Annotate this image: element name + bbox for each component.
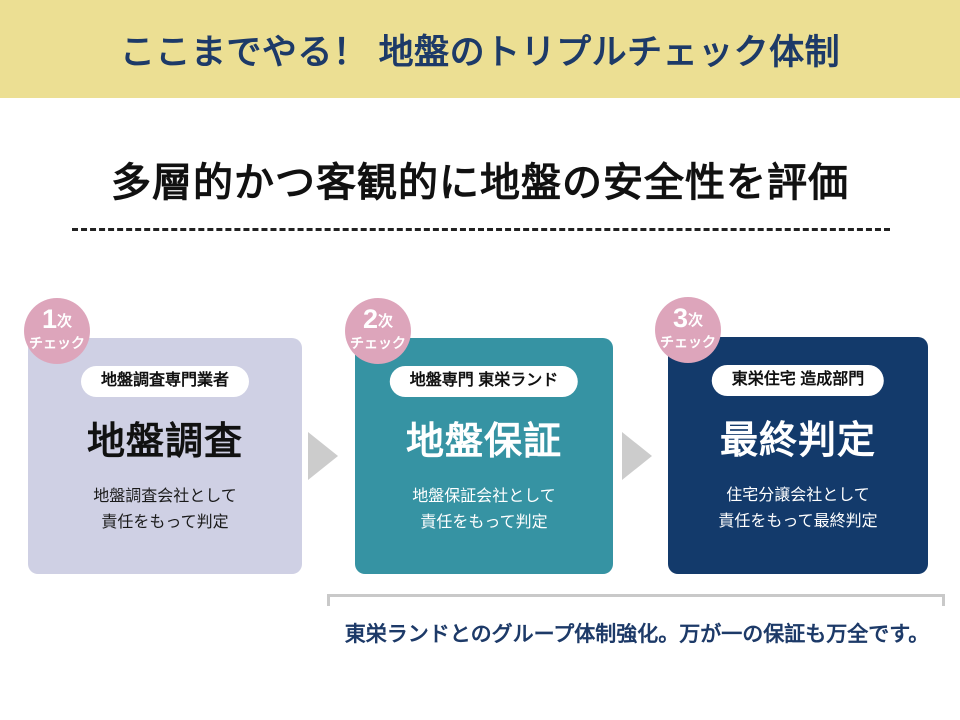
step-2-badge-number: 2: [363, 304, 378, 334]
step-3-provider-pill: 東栄住宅 造成部門: [712, 365, 884, 396]
step-1-badge-number: 1: [42, 304, 57, 334]
page-title: ここまでやる！ 地盤のトリプルチェック体制: [0, 0, 960, 98]
step-2-provider-pill: 地盤専門 東栄ランド: [390, 366, 578, 397]
step-2-heading: 地盤保証: [355, 422, 613, 464]
step-3-badge-label: チェック: [655, 335, 721, 349]
step-3-description-line2: 責任をもって最終判定: [668, 509, 928, 535]
infographic-page: ここまでやる！ 地盤のトリプルチェック体制 多層的かつ客観的に地盤の安全性を評価…: [0, 0, 960, 720]
group-bracket: [327, 594, 945, 606]
arrow-right-icon-1: [308, 432, 338, 480]
footer-caption: 東栄ランドとのグループ体制強化。万が一の保証も万全です。: [327, 618, 947, 648]
step-1-provider-pill: 地盤調査専門業者: [81, 366, 249, 397]
step-2-description: 地盤保証会社として 責任をもって判定: [355, 484, 613, 537]
step-2-badge-label: チェック: [345, 336, 411, 350]
step-2-description-line2: 責任をもって判定: [355, 510, 613, 536]
step-1-badge-label: チェック: [24, 336, 90, 350]
step-2-description-line1: 地盤保証会社として: [355, 484, 613, 510]
step-3-badge-unit: 次: [688, 312, 703, 329]
step-card-2: 地盤専門 東栄ランド 地盤保証 地盤保証会社として 責任をもって判定: [355, 338, 613, 574]
step-1-heading: 地盤調査: [28, 422, 302, 464]
step-3-description-line1: 住宅分譲会社として: [668, 483, 928, 509]
step-card-3: 東栄住宅 造成部門 最終判定 住宅分譲会社として 責任をもって最終判定: [668, 337, 928, 574]
step-1-description-line2: 責任をもって判定: [28, 510, 302, 536]
step-3-badge-top: 3次: [655, 305, 721, 332]
step-1-description: 地盤調査会社として 責任をもって判定: [28, 484, 302, 537]
step-1-badge-unit: 次: [57, 313, 72, 330]
step-2-badge-unit: 次: [378, 313, 393, 330]
step-1-badge: 1次 チェック: [24, 298, 90, 364]
step-card-1: 地盤調査専門業者 地盤調査 地盤調査会社として 責任をもって判定: [28, 338, 302, 574]
dashed-divider: [72, 228, 890, 231]
step-3-heading: 最終判定: [668, 421, 928, 463]
step-2-badge-top: 2次: [345, 306, 411, 333]
step-3-description: 住宅分譲会社として 責任をもって最終判定: [668, 483, 928, 536]
step-1-description-line1: 地盤調査会社として: [28, 484, 302, 510]
arrow-right-icon-2: [622, 432, 652, 480]
step-2-badge: 2次 チェック: [345, 298, 411, 364]
step-3-badge-number: 3: [673, 303, 688, 333]
subtitle: 多層的かつ客観的に地盤の安全性を評価: [0, 150, 960, 208]
step-1-badge-top: 1次: [24, 306, 90, 333]
step-3-badge: 3次 チェック: [655, 297, 721, 363]
